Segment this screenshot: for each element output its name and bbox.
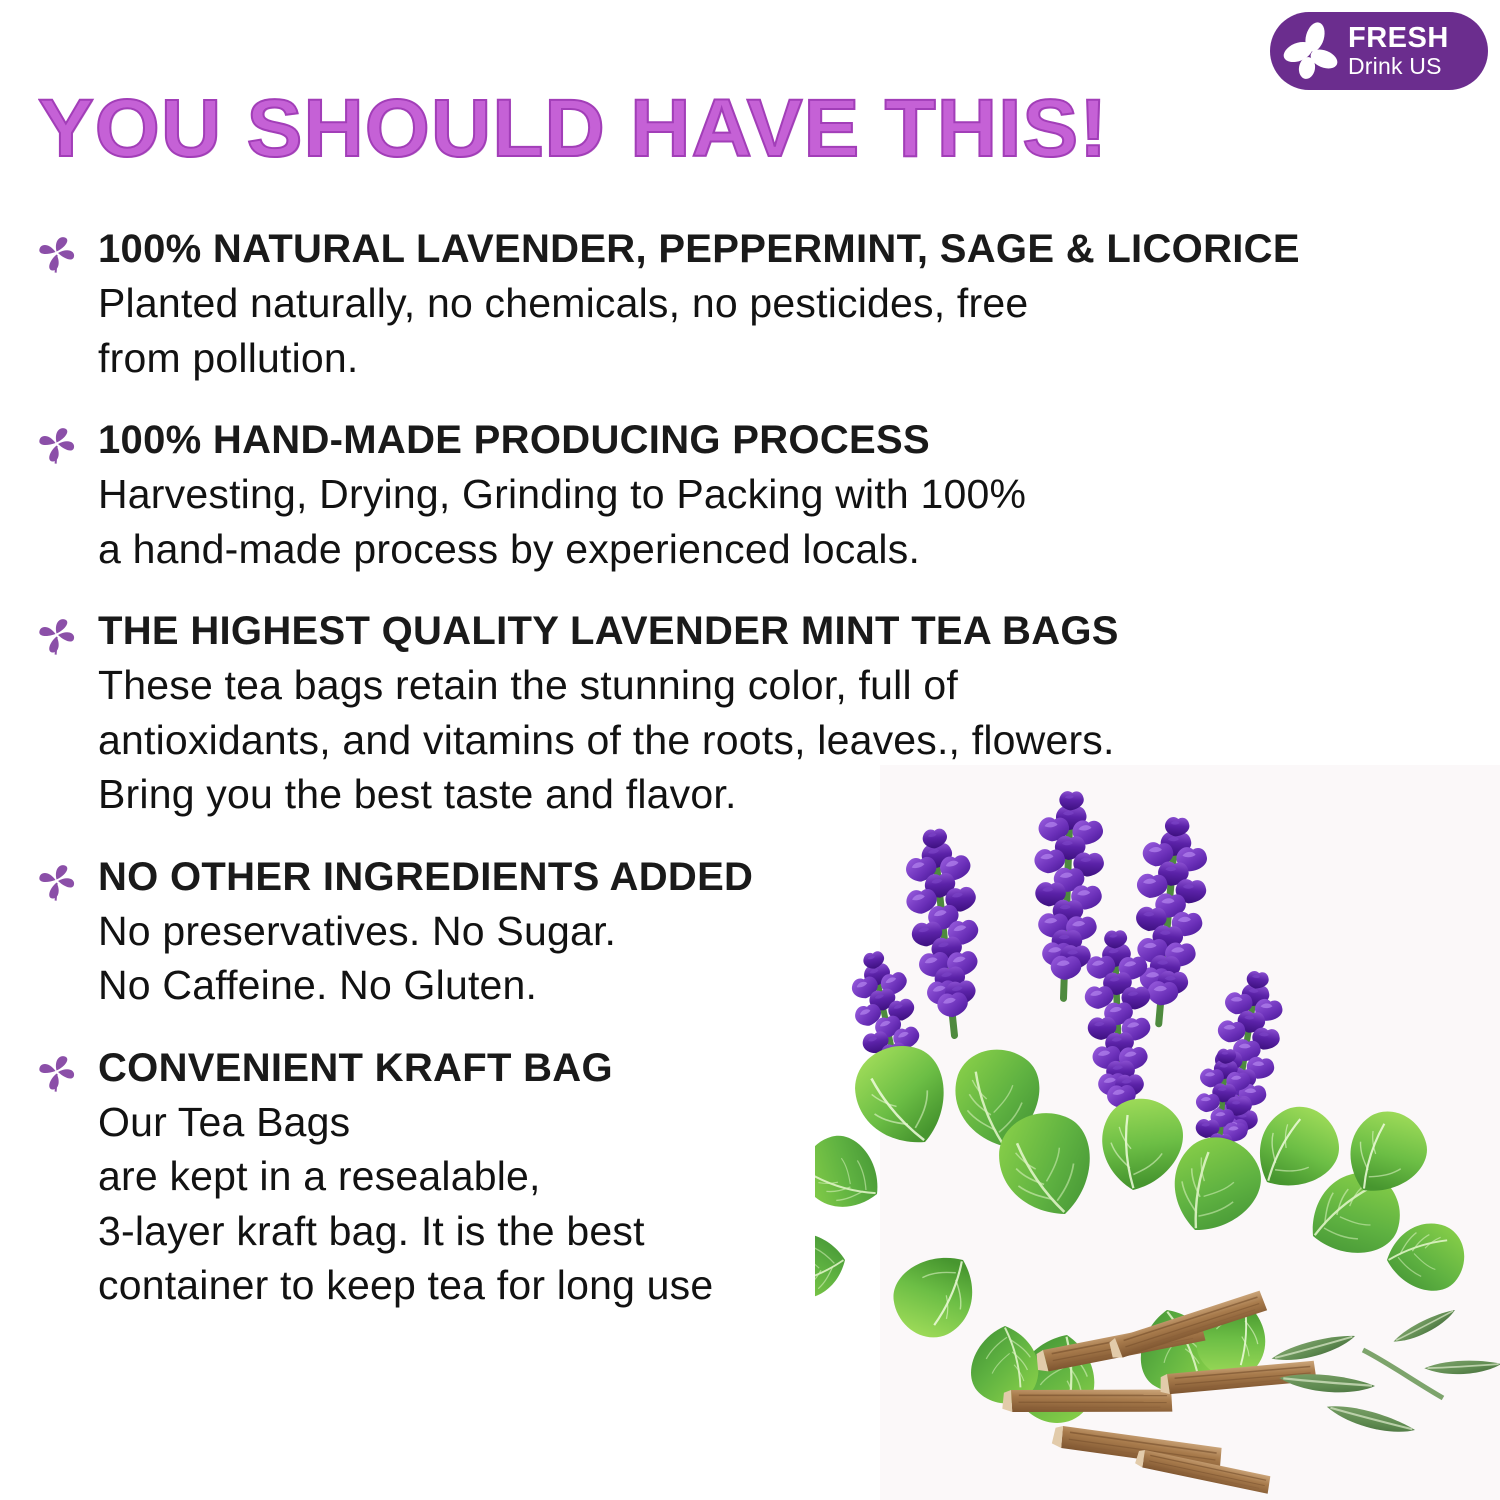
feature-title: 100% NATURAL LAVENDER, PEPPERMINT, SAGE …	[98, 228, 1430, 270]
feature-body-line: Harvesting, Drying, Grinding to Packing …	[98, 467, 1430, 522]
four-leaf-clover-icon	[34, 614, 80, 660]
feature-title: 100% HAND-MADE PRODUCING PROCESS	[98, 419, 1430, 461]
feature-body-line: Planted naturally, no chemicals, no pest…	[98, 276, 1430, 331]
feature-list: 100% NATURAL LAVENDER, PEPPERMINT, SAGE …	[30, 228, 1430, 1313]
four-leaf-clover-icon	[34, 1051, 80, 1097]
page-title: YOU SHOULD HAVE THIS!	[38, 88, 1108, 170]
brand-name-secondary: Drink US	[1348, 55, 1449, 78]
feature-body: Harvesting, Drying, Grinding to Packing …	[98, 467, 1430, 576]
feature-body-line: from pollution.	[98, 331, 1430, 386]
feature-body-line: are kept in a resealable,	[98, 1149, 1430, 1204]
feature-body: These tea bags retain the stunning color…	[98, 658, 1430, 822]
four-leaf-clover-icon	[34, 860, 80, 906]
feature-body-line: a hand-made process by experienced local…	[98, 522, 1430, 577]
feature-body-line: No preservatives. No Sugar.	[98, 904, 1430, 959]
feature-item: 100% HAND-MADE PRODUCING PROCESS Harvest…	[30, 419, 1430, 576]
feature-item: CONVENIENT KRAFT BAG Our Tea Bags are ke…	[30, 1047, 1430, 1313]
feature-title: CONVENIENT KRAFT BAG	[98, 1047, 1430, 1089]
brand-logo-text: FRESH Drink US	[1348, 24, 1449, 78]
feature-body: Planted naturally, no chemicals, no pest…	[98, 276, 1430, 385]
feature-body-line: These tea bags retain the stunning color…	[98, 658, 1430, 713]
feature-body-line: antioxidants, and vitamins of the roots,…	[98, 713, 1430, 768]
brand-logo: FRESH Drink US	[1270, 12, 1488, 90]
leaf-cluster-icon	[1282, 20, 1344, 82]
feature-item: 100% NATURAL LAVENDER, PEPPERMINT, SAGE …	[30, 228, 1430, 385]
feature-item: THE HIGHEST QUALITY LAVENDER MINT TEA BA…	[30, 610, 1430, 822]
four-leaf-clover-icon	[34, 423, 80, 469]
feature-body-line: 3-layer kraft bag. It is the best	[98, 1204, 1430, 1259]
feature-body: Our Tea Bags are kept in a resealable, 3…	[98, 1095, 1430, 1313]
four-leaf-clover-icon	[34, 232, 80, 278]
brand-name-primary: FRESH	[1348, 24, 1449, 53]
feature-body-line: Bring you the best taste and flavor.	[98, 767, 1430, 822]
feature-body-line: Our Tea Bags	[98, 1095, 1430, 1150]
feature-body: No preservatives. No Sugar. No Caffeine.…	[98, 904, 1430, 1013]
feature-body-line: No Caffeine. No Gluten.	[98, 958, 1430, 1013]
feature-title: THE HIGHEST QUALITY LAVENDER MINT TEA BA…	[98, 610, 1430, 652]
feature-item: NO OTHER INGREDIENTS ADDED No preservati…	[30, 856, 1430, 1013]
feature-body-line: container to keep tea for long use	[98, 1258, 1430, 1313]
feature-title: NO OTHER INGREDIENTS ADDED	[98, 856, 1430, 898]
